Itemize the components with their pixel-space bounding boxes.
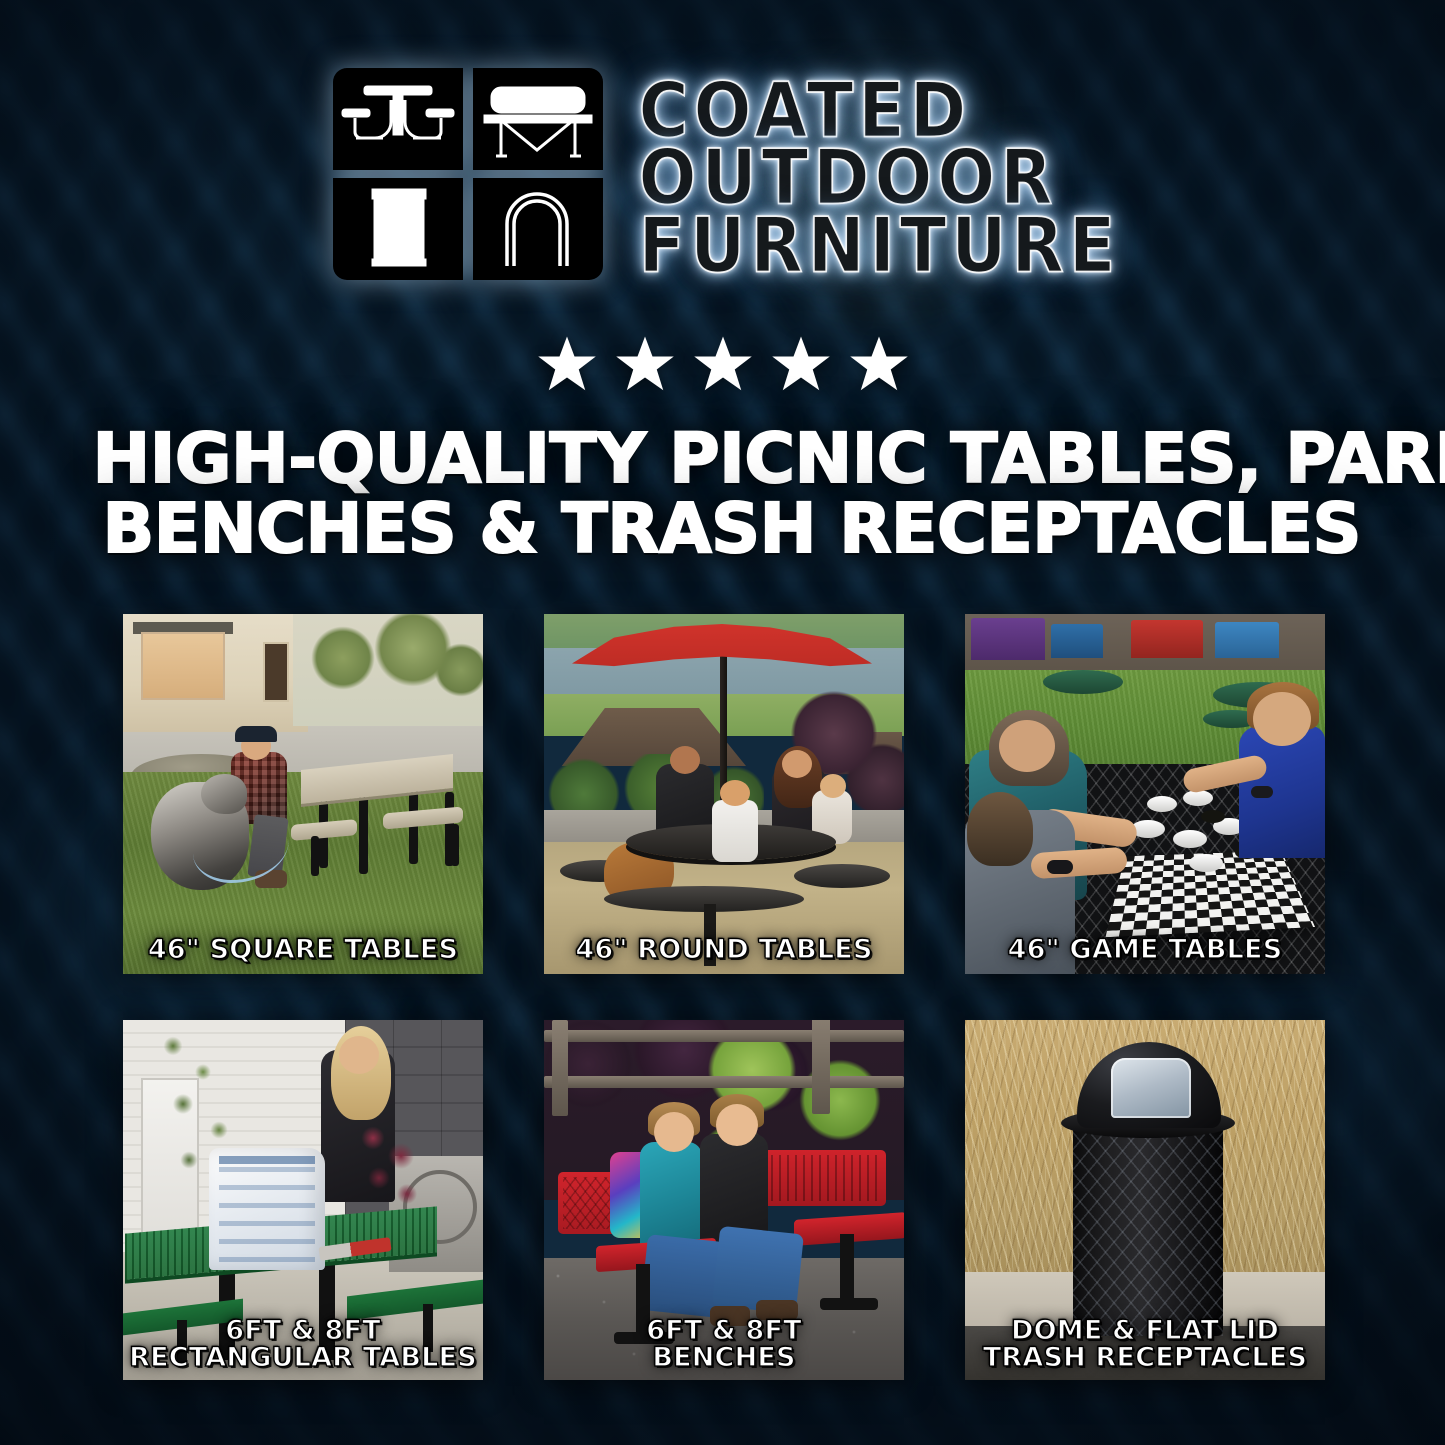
star-icon-2	[614, 334, 676, 394]
brand-wordmark: COATED OUTDOOR FURNITURE	[639, 75, 1121, 275]
promotional-poster: COATED OUTDOOR FURNITURE HIGH-QUALITY PI…	[0, 0, 1445, 1445]
product-caption-square-tables: 46" SQUARE TABLES	[123, 936, 483, 964]
product-caption-round-tables: 46" ROUND TABLES	[544, 936, 904, 964]
caption-line-1: 6FT & 8FT	[550, 1317, 898, 1345]
product-tile-round-tables[interactable]: 46" ROUND TABLES	[544, 614, 904, 974]
product-caption-rectangular-tables: 6FT & 8FT RECTANGULAR TABLES	[123, 1317, 483, 1372]
brand-logo: COATED OUTDOOR FURNITURE	[0, 60, 1445, 288]
product-tile-rectangular-tables[interactable]: 6FT & 8FT RECTANGULAR TABLES	[123, 1020, 483, 1380]
star-icon-4	[770, 334, 832, 394]
caption-line-1: 46" ROUND TABLES	[550, 936, 898, 964]
headline-line-1: HIGH-QUALITY PICNIC TABLES, PARK	[93, 424, 1353, 494]
page-title: HIGH-QUALITY PICNIC TABLES, PARK BENCHES…	[93, 424, 1353, 565]
headline-line-2: BENCHES & TRASH RECEPTACLES	[102, 494, 1343, 564]
product-image-game-tables	[965, 614, 1325, 974]
caption-line-1: 46" SQUARE TABLES	[129, 936, 477, 964]
product-caption-benches: 6FT & 8FT BENCHES	[544, 1317, 904, 1372]
star-icon-3	[692, 334, 754, 394]
caption-line-1: DOME & FLAT LID	[971, 1317, 1319, 1345]
product-tile-square-tables[interactable]: 46" SQUARE TABLES	[123, 614, 483, 974]
product-caption-trash-receptacles: DOME & FLAT LID TRASH RECEPTACLES	[965, 1317, 1325, 1372]
logo-icon-grid	[325, 60, 611, 288]
trash-receptacle-icon	[373, 190, 425, 265]
wordmark-line-3: FURNITURE	[639, 210, 1121, 283]
product-tile-trash-receptacles[interactable]: DOME & FLAT LID TRASH RECEPTACLES	[965, 1020, 1325, 1380]
caption-line-2: BENCHES	[550, 1344, 898, 1372]
star-rating	[0, 334, 1445, 394]
product-grid: 46" SQUARE TABLES	[123, 614, 1325, 1380]
product-tile-game-tables[interactable]: 46" GAME TABLES	[965, 614, 1325, 974]
product-image-round-tables	[544, 614, 904, 974]
product-caption-game-tables: 46" GAME TABLES	[965, 936, 1325, 964]
caption-line-2: TRASH RECEPTACLES	[971, 1344, 1319, 1372]
caption-line-2: RECTANGULAR TABLES	[129, 1344, 477, 1372]
caption-line-1: 6FT & 8FT	[129, 1317, 477, 1345]
star-icon-1	[536, 334, 598, 394]
product-image-square-tables	[123, 614, 483, 974]
product-tile-benches[interactable]: 6FT & 8FT BENCHES	[544, 1020, 904, 1380]
star-icon-5	[848, 334, 910, 394]
caption-line-1: 46" GAME TABLES	[971, 936, 1319, 964]
